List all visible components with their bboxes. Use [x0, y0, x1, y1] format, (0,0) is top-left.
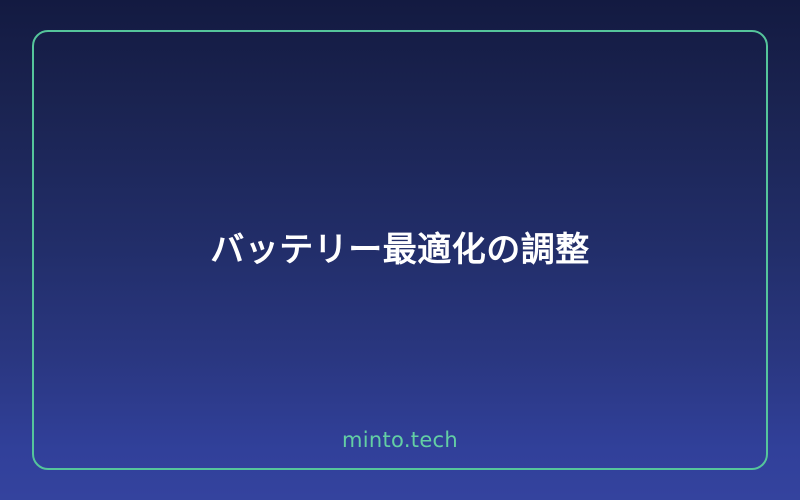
- card-canvas: バッテリー最適化の調整 minto.tech: [0, 0, 800, 500]
- card-footer: minto.tech: [32, 428, 768, 452]
- brand-label: minto.tech: [342, 428, 458, 452]
- page-title: バッテリー最適化の調整: [170, 229, 630, 272]
- card-content: バッテリー最適化の調整: [32, 30, 768, 470]
